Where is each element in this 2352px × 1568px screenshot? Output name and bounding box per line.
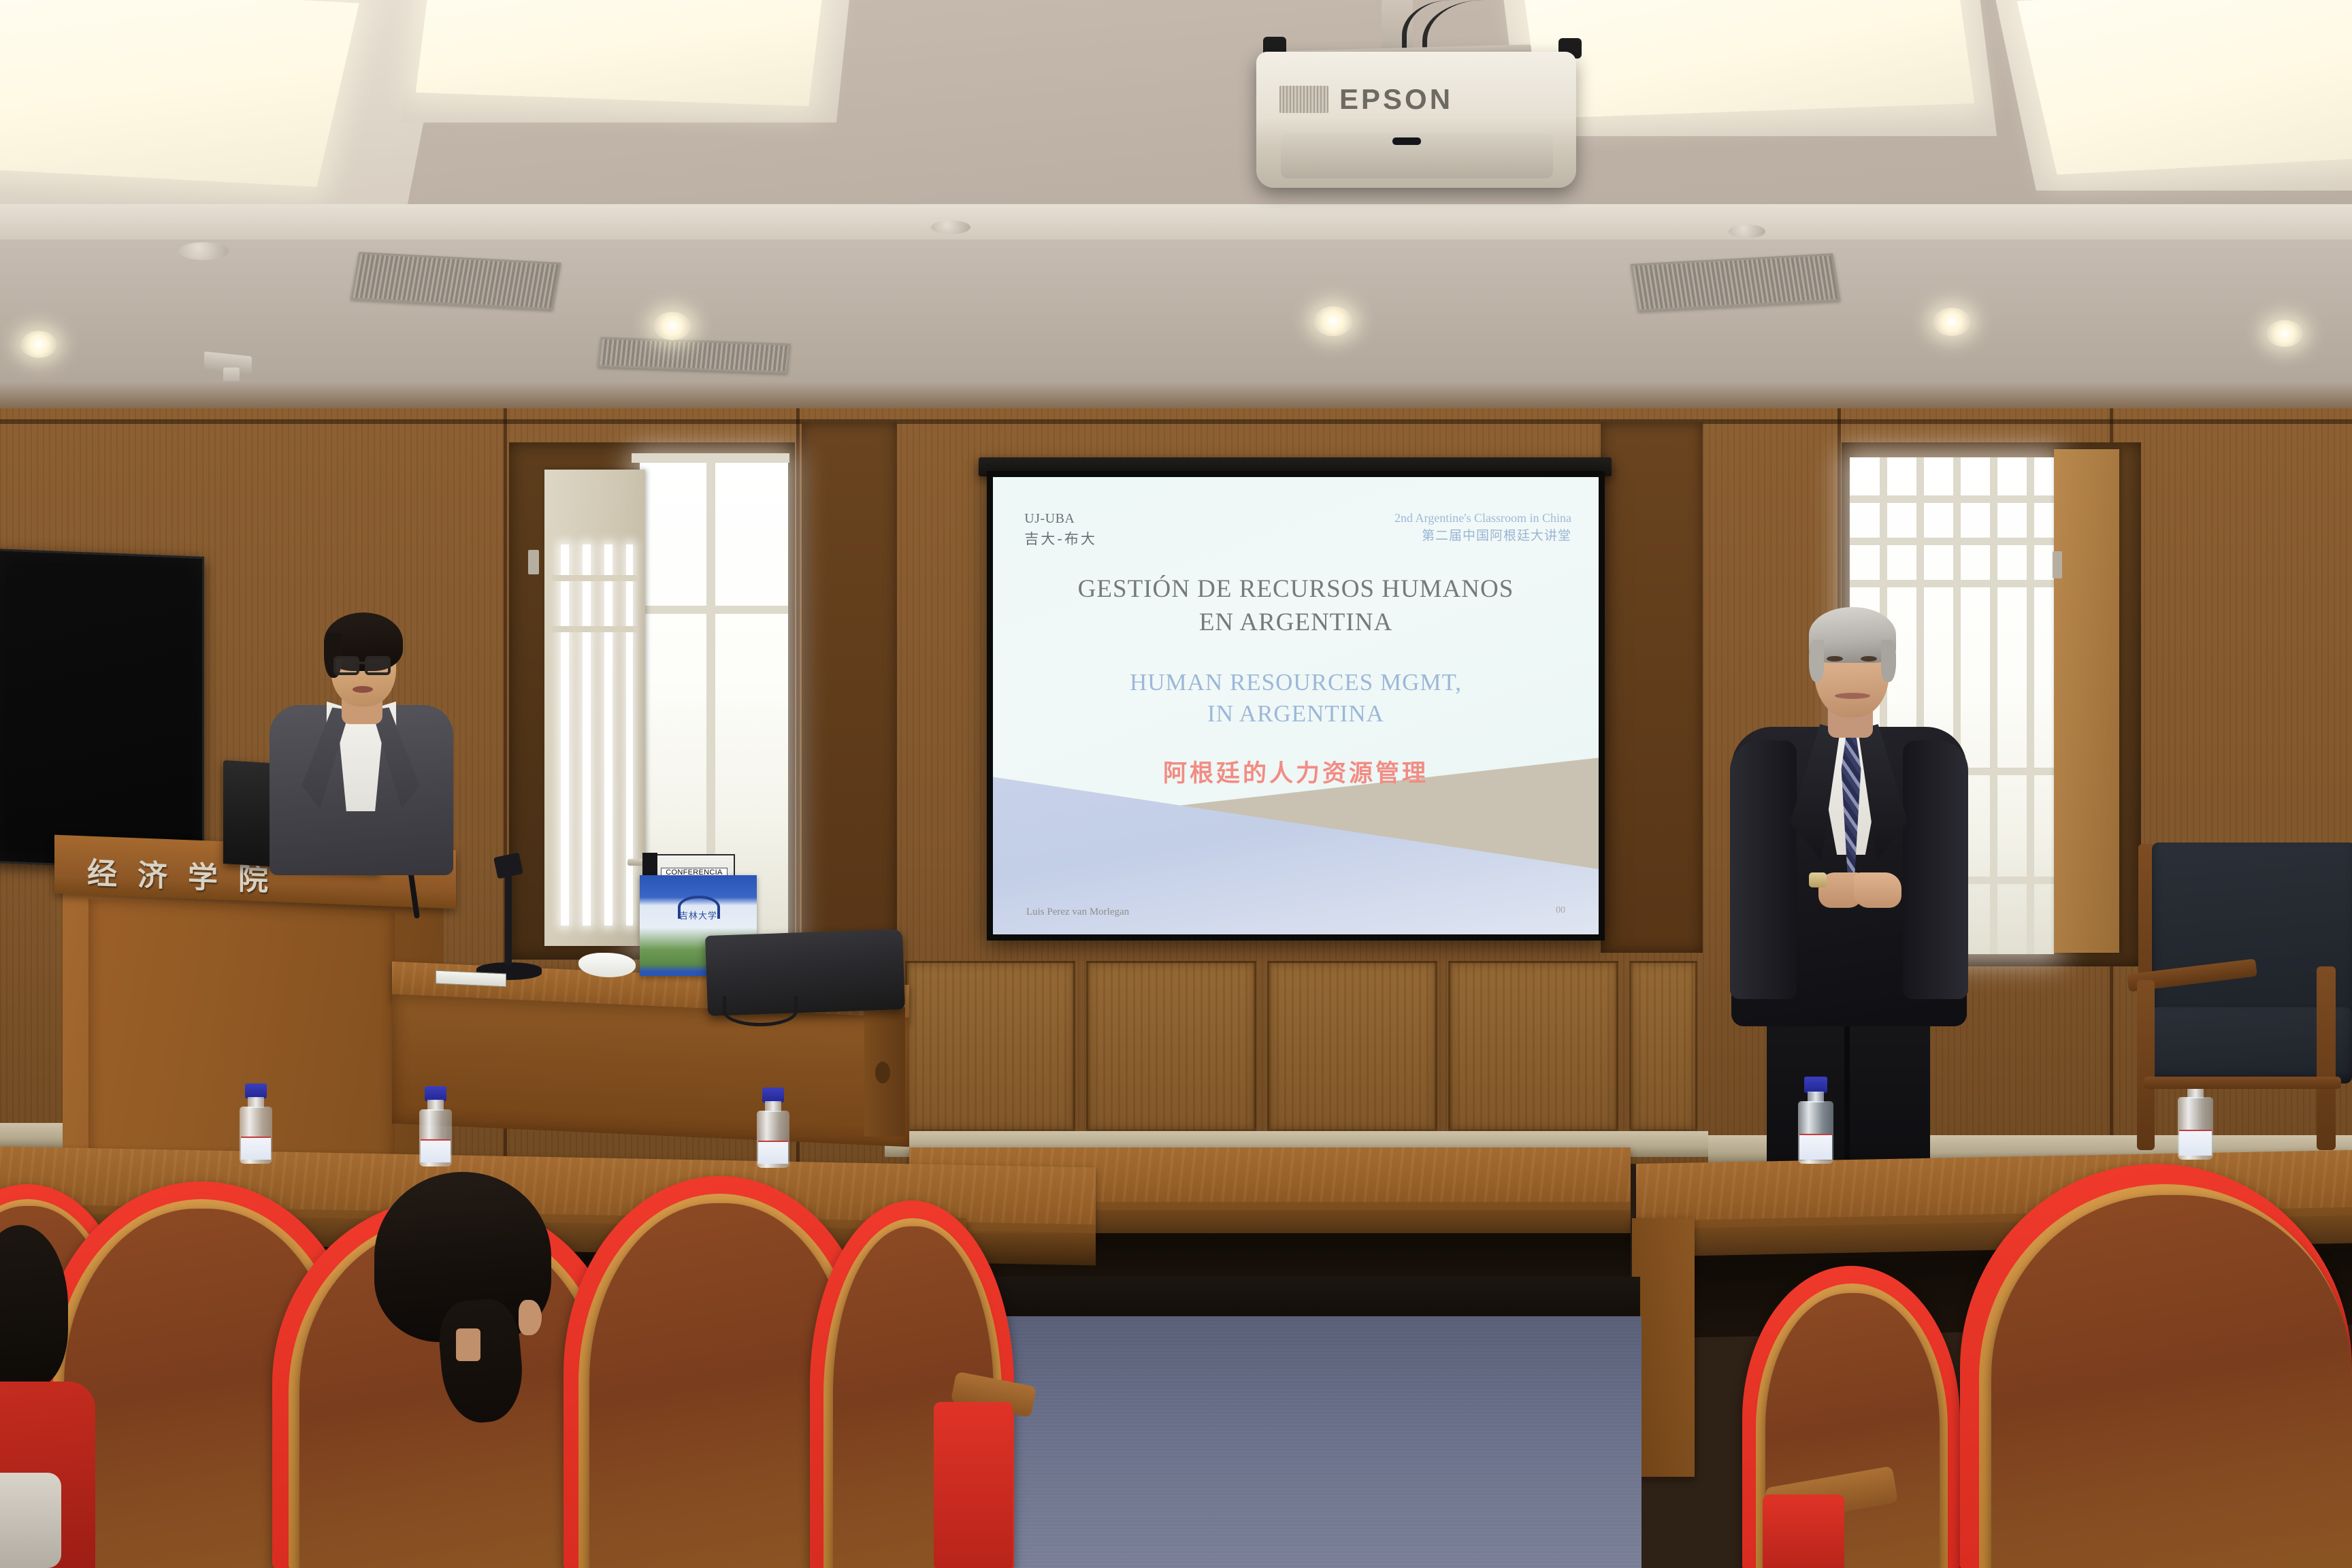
- carpet-floor: [961, 1316, 1641, 1568]
- window-head-left: [632, 453, 789, 463]
- window-grid-r-h2: [1850, 538, 2054, 545]
- presenter-left-glasses-lens-left: [333, 656, 359, 675]
- water-bottle-1-label: [241, 1137, 271, 1160]
- lecture-hall-photo: EPSON: [0, 0, 2352, 1568]
- wall-mounted-tv: [0, 549, 204, 871]
- microphone-stem: [505, 870, 512, 965]
- water-bottle-4-label: [1799, 1134, 1832, 1160]
- door-hinge-right: [2053, 551, 2062, 578]
- water-bottle-5-label: [2179, 1130, 2212, 1156]
- wall-panel-2: [1086, 961, 1256, 1131]
- water-bottle-4: [1798, 1077, 1833, 1164]
- door-leaf-right[interactable]: [2054, 449, 2119, 953]
- projection-screen: UJ-UBA 吉大-布大 2nd Argentine's Classroom i…: [987, 471, 1605, 941]
- wall-seam-top-rail: [0, 419, 2352, 424]
- ceiling-step-band-upper: [0, 204, 2352, 240]
- projector-brand-label: EPSON: [1339, 83, 1453, 116]
- ceiling-step-band-lower: [0, 240, 2352, 382]
- water-bottle-1: [240, 1083, 272, 1164]
- presenter-right: [1714, 584, 1979, 1183]
- presenter-left-glasses-bridge: [359, 661, 365, 664]
- door-light-gap-3: [604, 544, 612, 926]
- slide-title-english: HUMAN RESOURCES MGMT, IN ARGENTINA: [993, 667, 1599, 730]
- gift-bag-handle: [678, 896, 720, 919]
- slide-header-left-line1: UJ-UBA: [1024, 509, 1097, 529]
- ceiling-downlight-3: [1313, 306, 1353, 336]
- podium-char-1: 经: [87, 849, 117, 894]
- audience-ponytail-neck: [456, 1328, 480, 1361]
- slide-page-number: 00: [1556, 905, 1565, 916]
- screen-pilaster-left: [802, 422, 897, 953]
- side-table-front: [392, 994, 909, 1147]
- floor-shadow-band: [953, 1277, 1640, 1322]
- water-bottle-3-cap: [762, 1088, 784, 1102]
- audience-left-edge-scarf: [0, 1473, 61, 1568]
- slide-title-english-line1: HUMAN RESOURCES MGMT,: [993, 667, 1599, 698]
- slide-header-right-line1: 2nd Argentine's Classroom in China: [1394, 509, 1571, 527]
- water-bottle-2: [419, 1086, 452, 1166]
- smoke-detector-icon-3: [1729, 225, 1765, 238]
- audience-chair-4-side: [934, 1402, 1013, 1568]
- door-hinge-left-upper: [528, 550, 539, 574]
- presenter-left: [265, 585, 463, 871]
- audience-ponytail-ear: [519, 1300, 542, 1335]
- projector-led-indicator: [1392, 137, 1421, 145]
- armchair-right-stretcher: [2144, 1077, 2341, 1089]
- armchair-right-leg-front: [2137, 980, 2155, 1150]
- presenter-right-wristwatch: [1809, 872, 1827, 887]
- slide-header-left-line2: 吉大-布大: [1024, 529, 1097, 549]
- ceiling-downlight-1: [20, 331, 57, 358]
- armchair-right-leg-back: [2317, 966, 2336, 1150]
- water-bottle-1-cap: [245, 1083, 267, 1098]
- presenter-right-mouth: [1835, 693, 1870, 699]
- ceiling-downlight-2: [653, 312, 691, 340]
- presenter-left-glasses-lens-right: [365, 656, 391, 675]
- slide-title-spanish-line2: EN ARGENTINA: [993, 606, 1599, 640]
- audience-chair-5-side: [1763, 1494, 1844, 1568]
- water-bottle-3-label: [758, 1141, 788, 1164]
- audience-member-left-edge: [0, 1225, 88, 1568]
- presenter-right-hand-right: [1854, 872, 1901, 908]
- window-mullion-left-h: [640, 606, 788, 614]
- slide-title-english-line2: IN ARGENTINA: [993, 698, 1599, 730]
- screen-pilaster-right: [1601, 422, 1703, 953]
- slide-header-left: UJ-UBA 吉大-布大: [1024, 509, 1097, 549]
- wall-panel-1: [905, 961, 1075, 1131]
- door-leaf-left[interactable]: [544, 470, 645, 946]
- door-slat-h3: [551, 575, 638, 581]
- door-light-gap-2: [583, 544, 591, 926]
- presenter-right-jacket-left-arm: [1730, 740, 1797, 999]
- door-light-gap-4: [626, 544, 633, 926]
- smoke-detector-icon-2: [931, 220, 970, 234]
- podium-char-2: 济: [137, 851, 167, 896]
- presenter-right-eye-left: [1827, 656, 1843, 661]
- ceiling-light-panel-2: [416, 0, 823, 106]
- slide-title-chinese: 阿根廷的人力资源管理: [993, 754, 1599, 789]
- water-bottle-4-cap: [1804, 1077, 1827, 1093]
- presentation-slide: UJ-UBA 吉大-布大 2nd Argentine's Classroom i…: [993, 477, 1599, 934]
- water-bottle-3: [757, 1088, 789, 1168]
- audience-chair-6-back[interactable]: [1991, 1195, 2352, 1568]
- slide-title-spanish: GESTIÓN DE RECURSOS HUMANOS EN ARGENTINA: [993, 573, 1599, 640]
- ceiling-light-panel-4: [2017, 0, 2352, 175]
- audience-left-edge-hair: [0, 1225, 68, 1388]
- door-light-gap-1: [561, 544, 569, 926]
- water-bottle-2-label: [421, 1139, 451, 1162]
- ceiling-light-panel-1: [0, 0, 359, 187]
- projector-grille: [1279, 86, 1328, 113]
- presenter-right-hair-sideburn-right: [1881, 640, 1896, 682]
- laptop-bag-handle: [723, 996, 798, 1026]
- audience-member-ponytail: [354, 1172, 599, 1512]
- presenter-right-eye-right: [1861, 656, 1877, 661]
- slide-title-spanish-line1: GESTIÓN DE RECURSOS HUMANOS: [993, 573, 1599, 606]
- presenter-left-mouth: [353, 686, 373, 693]
- wall-panel-4: [1448, 961, 1618, 1131]
- presenter-right-jacket-right-arm: [1903, 740, 1968, 999]
- window-grid-r-h1: [1850, 495, 2054, 503]
- slide-header-right-line2: 第二届中国阿根廷大讲堂: [1394, 527, 1571, 546]
- wall-panel-3: [1267, 961, 1437, 1131]
- podium-char-3: 学: [188, 853, 218, 898]
- ceiling-downlight-5: [2266, 320, 2303, 347]
- ceiling-light-panel-3: [1524, 0, 1975, 118]
- slide-author-name: Luis Perez van Morlegan: [1026, 906, 1129, 918]
- smoke-detector-icon: [178, 242, 229, 260]
- ceiling-downlight-4: [1933, 308, 1971, 336]
- water-bottle-2-cap: [425, 1086, 446, 1101]
- door-slat-h4: [551, 626, 638, 632]
- projector: EPSON: [1256, 52, 1576, 188]
- side-table-knob: [875, 1062, 890, 1083]
- wall-panel-5: [1629, 961, 1697, 1131]
- presenter-right-hair-sideburn-left: [1809, 640, 1824, 682]
- slide-header-right: 2nd Argentine's Classroom in China 第二届中国…: [1394, 509, 1571, 546]
